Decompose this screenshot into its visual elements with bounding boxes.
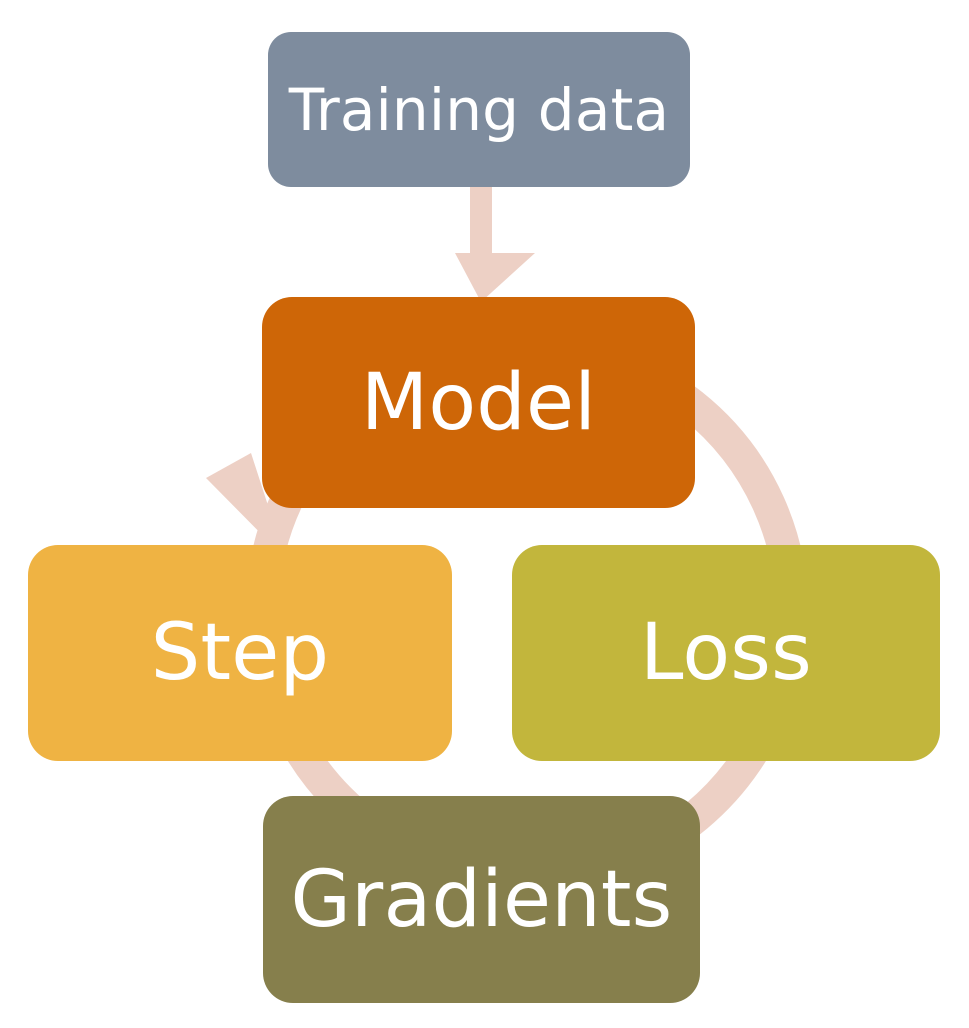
node-gradients-label: Gradients [291,861,673,939]
node-loss[interactable]: Loss [512,545,940,761]
node-training-data[interactable]: Training data [268,32,690,187]
node-model[interactable]: Model [262,297,695,508]
node-step[interactable]: Step [28,545,452,761]
node-training-data-label: Training data [289,81,670,139]
node-model-label: Model [361,364,596,442]
node-gradients[interactable]: Gradients [263,796,700,1003]
diagram-canvas: Training data Model Loss Gradients Step [0,0,969,1028]
node-loss-label: Loss [640,614,812,692]
down-arrow-shape [455,186,535,302]
node-step-label: Step [151,614,329,692]
